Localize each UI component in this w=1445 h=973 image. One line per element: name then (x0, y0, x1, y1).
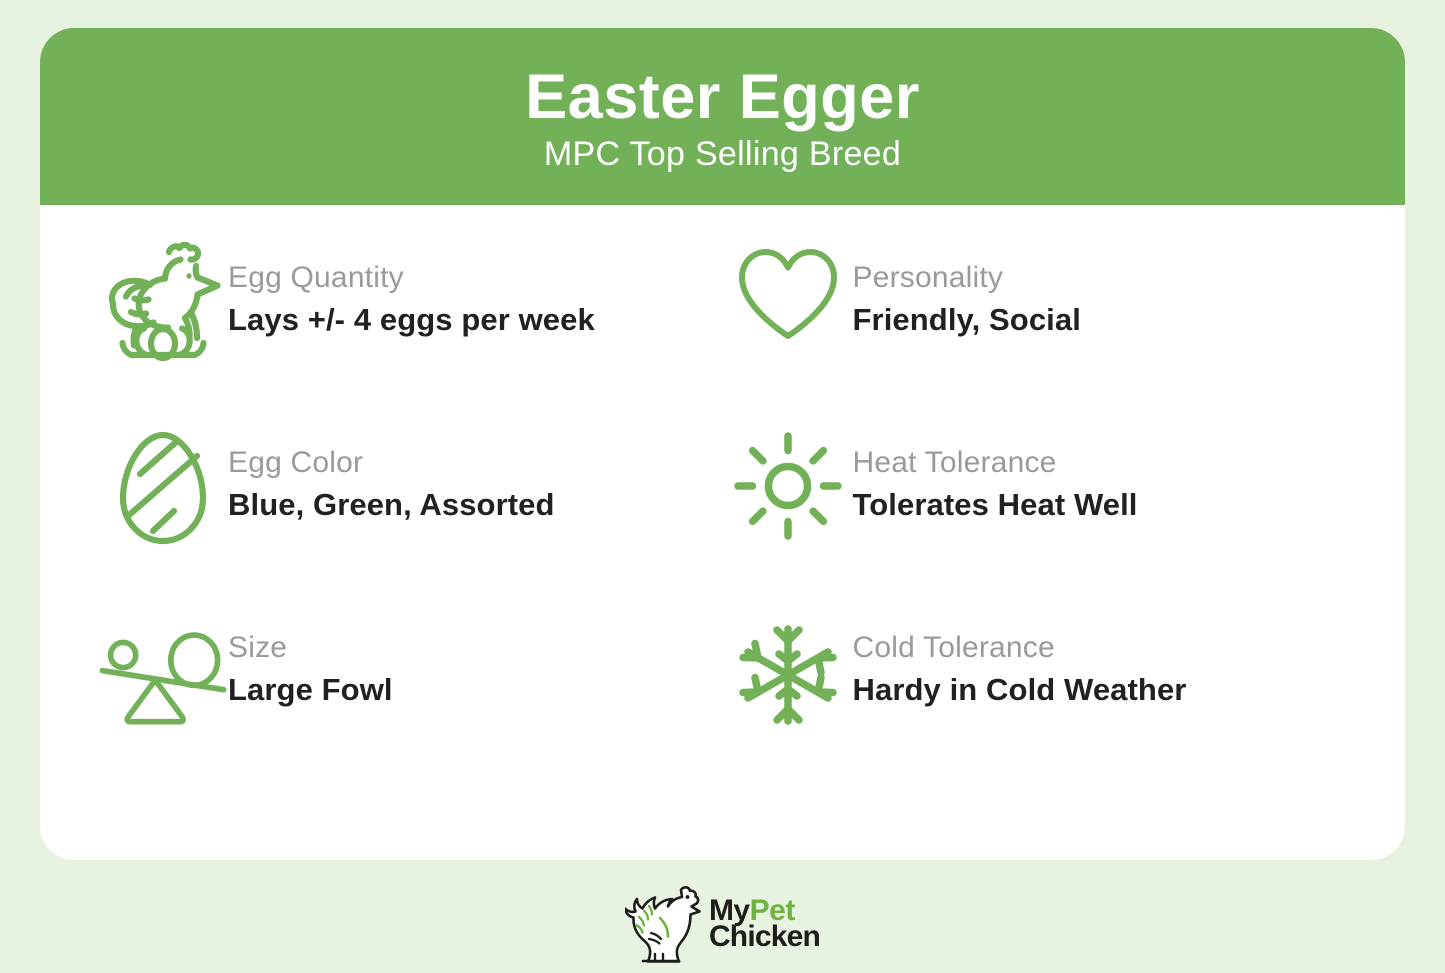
facts-grid: Egg Quantity Lays +/- 4 eggs per week Pe… (40, 205, 1405, 808)
fact-value: Lays +/- 4 eggs per week (228, 301, 595, 340)
breed-card: Easter Egger MPC Top Selling Breed (40, 28, 1405, 860)
fact-label: Personality (853, 259, 1081, 297)
fact-size: Size Large Fowl (40, 623, 723, 808)
fact-value: Tolerates Heat Well (853, 486, 1138, 525)
logo-line-2: Chicken (709, 924, 820, 950)
snowflake-icon (723, 621, 853, 751)
fact-value: Hardy in Cold Weather (853, 671, 1187, 710)
fact-label: Egg Color (228, 444, 555, 482)
fact-label: Cold Tolerance (853, 629, 1187, 667)
infographic-page: Easter Egger MPC Top Selling Breed (0, 0, 1445, 973)
fact-text: Egg Quantity Lays +/- 4 eggs per week (228, 253, 595, 339)
page-title: Easter Egger (525, 64, 920, 130)
heart-icon (723, 247, 853, 377)
fact-egg-color: Egg Color Blue, Green, Assorted (40, 438, 723, 623)
fact-egg-quantity: Egg Quantity Lays +/- 4 eggs per week (40, 253, 723, 438)
fact-label: Heat Tolerance (853, 444, 1138, 482)
fact-value: Large Fowl (228, 671, 393, 710)
fact-heat-tolerance: Heat Tolerance Tolerates Heat Well (723, 438, 1406, 623)
balance-scale-icon (98, 629, 228, 759)
card-header: Easter Egger MPC Top Selling Breed (40, 28, 1405, 205)
logo-wordmark: MyPet Chicken (709, 896, 820, 950)
fact-label: Egg Quantity (228, 259, 595, 297)
sun-icon (723, 430, 853, 560)
chicken-logo-icon (625, 881, 703, 965)
fact-text: Heat Tolerance Tolerates Heat Well (853, 438, 1138, 524)
fact-text: Cold Tolerance Hardy in Cold Weather (853, 623, 1187, 709)
footer: MyPet Chicken (0, 872, 1445, 973)
hen-on-eggs-icon (98, 235, 228, 365)
striped-egg-icon (98, 430, 228, 560)
fact-label: Size (228, 629, 393, 667)
fact-text: Size Large Fowl (228, 623, 393, 709)
brand-logo: MyPet Chicken (625, 881, 820, 965)
fact-value: Friendly, Social (853, 301, 1081, 340)
fact-personality: Personality Friendly, Social (723, 253, 1406, 438)
fact-value: Blue, Green, Assorted (228, 486, 555, 525)
page-subtitle: MPC Top Selling Breed (544, 136, 901, 173)
fact-text: Egg Color Blue, Green, Assorted (228, 438, 555, 524)
fact-cold-tolerance: Cold Tolerance Hardy in Cold Weather (723, 623, 1406, 808)
fact-text: Personality Friendly, Social (853, 253, 1081, 339)
